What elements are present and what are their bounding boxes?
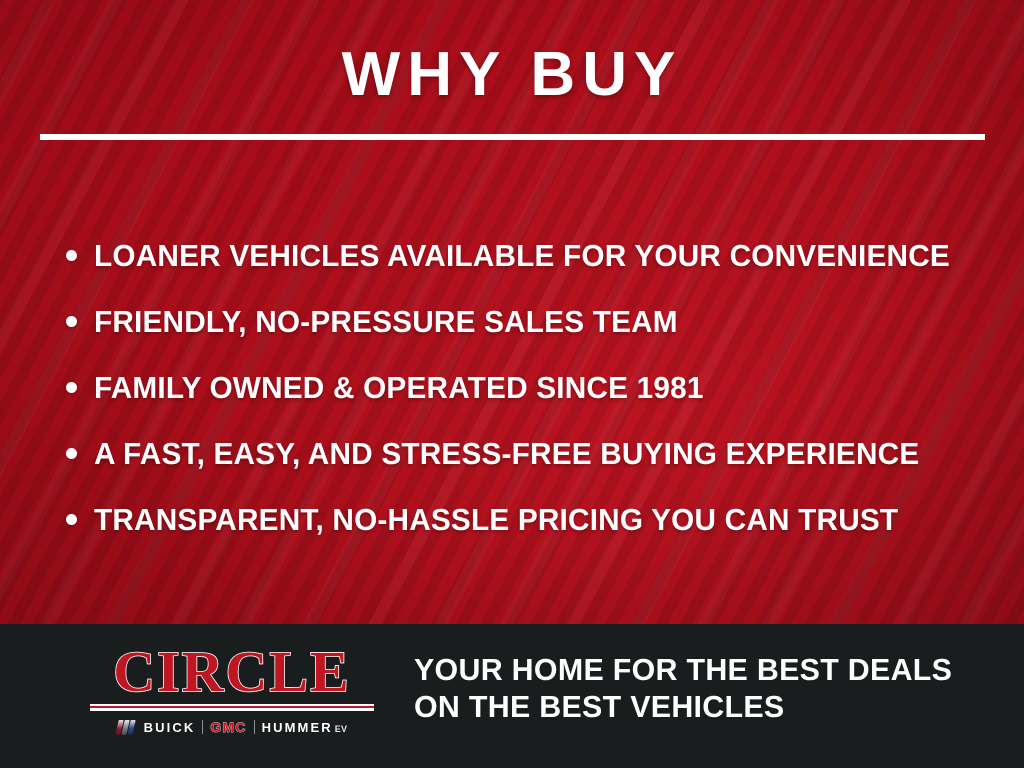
page-title: WHY BUY [0,44,1024,106]
bullet-dot-icon [66,250,77,261]
brand-label-buick: BUICK [144,721,196,734]
list-item: TRANSPARENT, NO-HASSLE PRICING YOU CAN T… [66,486,996,552]
title-divider [40,134,985,140]
logo-underline [90,704,374,711]
list-item: A FAST, EASY, AND STRESS-FREE BUYING EXP… [66,420,996,486]
list-item-label: LOANER VEHICLES AVAILABLE FOR YOUR CONVE… [94,240,950,271]
footer-tagline: YOUR HOME FOR THE BEST DEALS ON THE BEST… [414,652,994,725]
dealer-logo: CIRCLE BUICK GMC HUMMER EV [88,642,376,736]
brand-badge-row: BUICK GMC HUMMER EV [88,718,376,736]
footer-tagline-line-2: ON THE BEST VEHICLES [414,689,982,726]
list-item-label: FRIENDLY, NO-PRESSURE SALES TEAM [94,306,678,337]
benefits-list: LOANER VEHICLES AVAILABLE FOR YOUR CONVE… [66,222,996,552]
list-item-label: TRANSPARENT, NO-HASSLE PRICING YOU CAN T… [94,504,898,535]
footer-tagline-line-1: YOUR HOME FOR THE BEST DEALS [414,652,982,689]
brand-label-hummer: HUMMER [262,721,333,734]
brand-separator-icon [202,720,203,734]
buick-tri-shield-icon [117,720,134,735]
brand-label-hummer-ev: HUMMER EV [262,721,348,734]
brand-label-gmc: GMC [210,720,246,734]
list-item: FRIENDLY, NO-PRESSURE SALES TEAM [66,288,996,354]
list-item: LOANER VEHICLES AVAILABLE FOR YOUR CONVE… [66,222,996,288]
bullet-dot-icon [66,316,77,327]
bullet-dot-icon [66,514,77,525]
slide-body: WHY BUY LOANER VEHICLES AVAILABLE FOR YO… [0,0,1024,624]
brand-label-ev: EV [335,725,348,734]
logo-wordmark: CIRCLE [88,642,376,701]
brand-separator-icon [254,720,255,734]
bullet-dot-icon [66,382,77,393]
list-item-label: A FAST, EASY, AND STRESS-FREE BUYING EXP… [94,438,919,469]
list-item: FAMILY OWNED & OPERATED SINCE 1981 [66,354,996,420]
why-buy-slide: WHY BUY LOANER VEHICLES AVAILABLE FOR YO… [0,0,1024,768]
list-item-label: FAMILY OWNED & OPERATED SINCE 1981 [94,372,704,403]
bullet-dot-icon [66,448,77,459]
slide-footer: CIRCLE BUICK GMC HUMMER EV [0,624,1024,768]
